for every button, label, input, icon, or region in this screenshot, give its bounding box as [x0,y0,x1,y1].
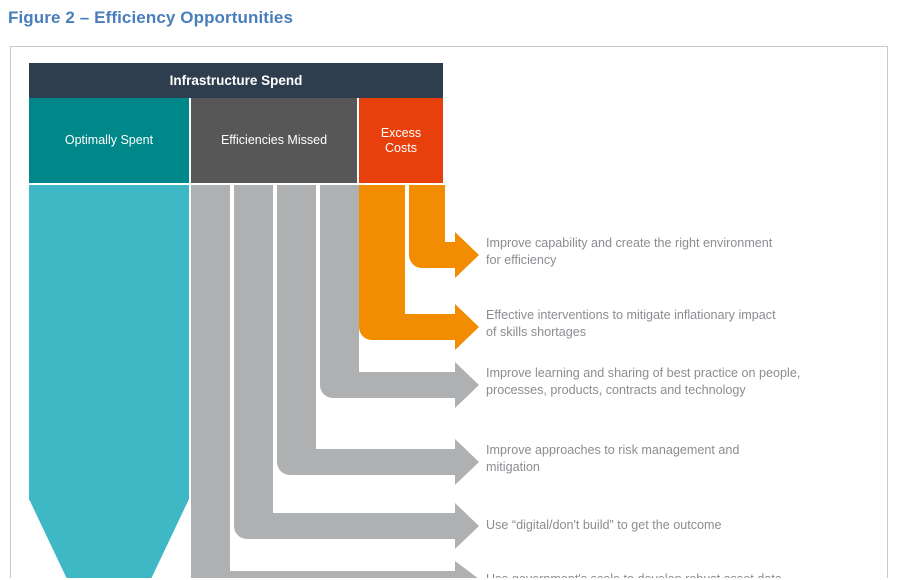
opportunity-text-4: Improve approaches to risk management an… [486,442,886,475]
opportunity-text-2: Effective interventions to mitigate infl… [486,307,886,340]
opportunity-5-line-1: Use “digital/don't build” to get the out… [486,517,886,534]
category-block-efficiencies-missed [191,98,357,183]
opportunity-4-line-2: mitigation [486,459,886,476]
opportunity-text-5: Use “digital/don't build” to get the out… [486,517,886,534]
header-bar-infrastructure-spend [29,63,443,98]
flow-excess-2 [409,185,479,278]
category-block-optimally-spent [29,98,189,183]
opportunity-2-line-1: Effective interventions to mitigate infl… [486,307,886,324]
opportunity-2-line-2: of skills shortages [486,324,886,341]
opportunity-text-1: Improve capability and create the right … [486,235,886,268]
opportunity-6-line-1: Use government's scale to develop robust… [486,571,886,578]
figure-frame: Infrastructure Spend Optimally Spent Eff… [10,46,888,578]
opportunity-1-line-1: Improve capability and create the right … [486,235,886,252]
flow-optimally-spent [29,185,189,578]
opportunity-3-line-2: processes, products, contracts and techn… [486,382,886,399]
page-title: Figure 2 – Efficiency Opportunities [8,8,293,28]
opportunity-1-line-2: for efficiency [486,252,886,269]
category-block-excess-costs [359,98,443,183]
opportunity-text-3: Improve learning and sharing of best pra… [486,365,886,398]
opportunity-text-6: Use government's scale to develop robust… [486,571,886,578]
opportunity-4-line-1: Improve approaches to risk management an… [486,442,886,459]
opportunity-3-line-1: Improve learning and sharing of best pra… [486,365,886,382]
flow-efficiencies-1-arrow [191,553,230,578]
